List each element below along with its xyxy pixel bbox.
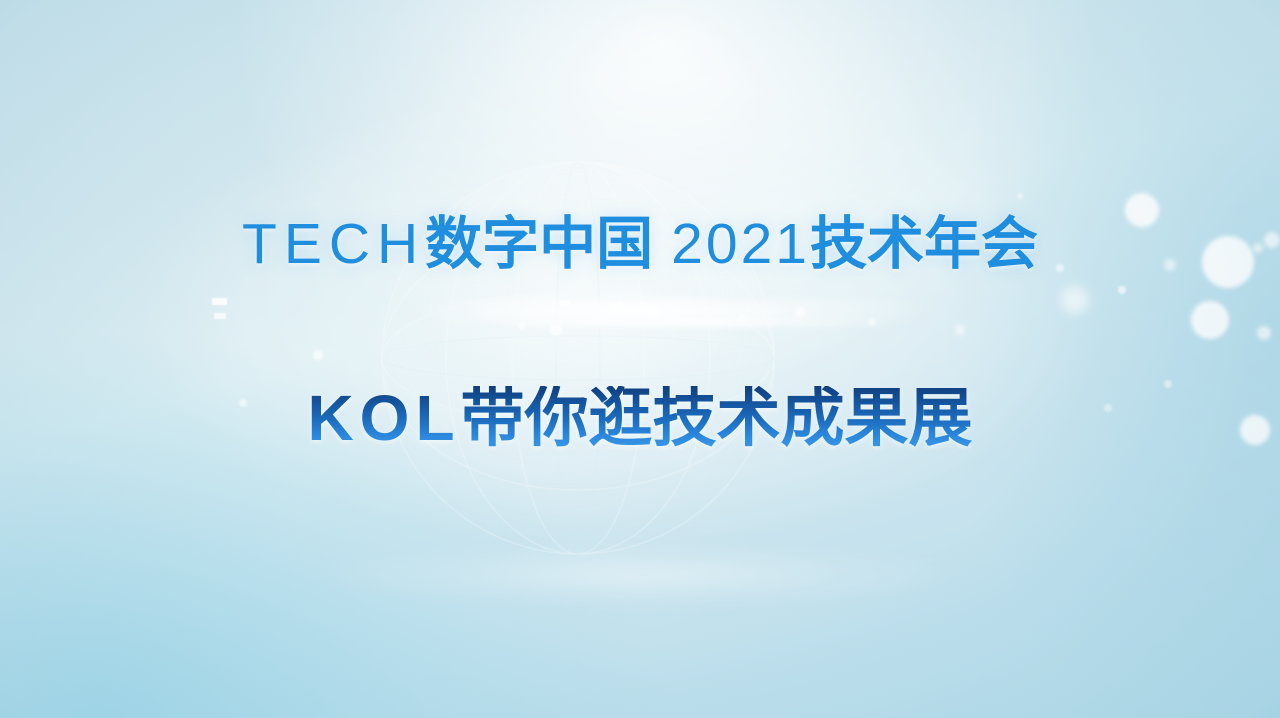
event-subtitle: KOL带你逛技术成果展: [0, 386, 1280, 450]
bokeh-circle: [1104, 404, 1112, 412]
bokeh-circle: [650, 307, 660, 317]
title-card-canvas: TECH数字中国2021技术年会 KOL带你逛技术成果展: [0, 0, 1280, 718]
bokeh-circle: [1202, 236, 1254, 288]
bokeh-circle: [738, 314, 746, 322]
bokeh-particle-layer: [0, 0, 1280, 718]
bokeh-circle: [1164, 380, 1172, 388]
bokeh-circle: [955, 325, 965, 335]
bokeh-circle: [994, 241, 1002, 249]
bokeh-circle: [313, 350, 323, 360]
bokeh-circle: [1056, 264, 1064, 272]
dash-particle: [212, 298, 227, 305]
bokeh-circle: [1164, 259, 1176, 271]
background-cyan-tint-right: [0, 0, 1280, 718]
bokeh-circle: [795, 307, 805, 317]
event-title: TECH数字中国2021技术年会: [0, 216, 1280, 273]
bokeh-circle: [239, 399, 247, 407]
bokeh-circle: [550, 324, 562, 336]
event-title-cjk-2: 技术年会: [810, 212, 1038, 276]
event-title-cjk-1: 数字中国: [425, 212, 653, 276]
background-top-bloom: [0, 0, 1280, 718]
bokeh-circle: [1253, 243, 1263, 253]
bokeh-circle: [1240, 415, 1270, 445]
title-text-block: TECH数字中国2021技术年会 KOL带你逛技术成果展: [0, 0, 1280, 718]
light-streak-secondary: [470, 318, 900, 327]
dash-particle: [560, 300, 571, 306]
bokeh-circle: [1061, 286, 1089, 314]
event-title-year: 2021: [671, 212, 810, 276]
dash-particle-layer: [0, 0, 1280, 718]
dash-particle: [612, 302, 621, 307]
bokeh-circle: [1125, 193, 1159, 227]
light-streak-primary: [420, 300, 940, 322]
dash-particle: [214, 313, 226, 319]
event-subtitle-cjk: 带你逛技术成果展: [461, 382, 973, 454]
bokeh-circle: [1191, 301, 1229, 339]
event-title-latin: TECH: [242, 212, 425, 276]
bokeh-circle: [1017, 193, 1023, 199]
event-subtitle-latin: KOL: [307, 382, 460, 454]
background-center-bloom: [0, 0, 1280, 718]
background-base-gradient: [0, 0, 1280, 718]
globe-icon: [268, 148, 888, 568]
bokeh-circle: [1257, 326, 1271, 340]
background-vignette: [0, 0, 1280, 718]
background-cyan-tint-left: [0, 0, 1280, 718]
bokeh-circle: [518, 322, 526, 330]
bottom-glow-shelf: [300, 540, 990, 610]
bokeh-circle: [1118, 286, 1126, 294]
bokeh-circle: [868, 318, 876, 326]
bokeh-circle: [1264, 232, 1280, 248]
